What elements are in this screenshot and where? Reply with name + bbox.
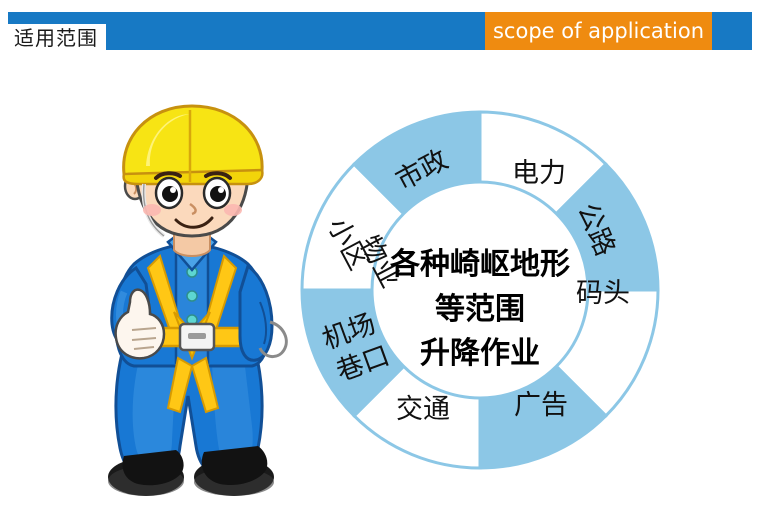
slide-canvas: scope of application 适用范围 bbox=[0, 0, 760, 518]
header-english-badge: scope of application bbox=[485, 12, 712, 50]
label-dianli: 电力 bbox=[512, 158, 566, 189]
pupil-left bbox=[162, 186, 178, 202]
worker-body-group bbox=[108, 106, 286, 496]
cheek-right bbox=[224, 204, 242, 216]
pupil-right bbox=[210, 186, 226, 202]
belt-buckle-bar bbox=[188, 333, 206, 339]
header-chinese-title: 适用范围 bbox=[14, 28, 98, 48]
eye-right-glint bbox=[218, 187, 224, 193]
header-chinese-badge: 适用范围 bbox=[8, 24, 106, 52]
center-line-1: 各种崎岖地形 bbox=[389, 247, 570, 282]
eye-left-glint bbox=[170, 187, 176, 193]
center-line-3: 升降作业 bbox=[420, 336, 540, 371]
label-guanggao: 广告 bbox=[514, 390, 568, 421]
worker-illustration bbox=[72, 96, 312, 496]
header-english-title: scope of application bbox=[493, 21, 704, 42]
jacket-button bbox=[187, 291, 197, 301]
label-matou: 码头 bbox=[576, 278, 630, 309]
arm-right bbox=[240, 266, 272, 360]
center-line-2: 等范围 bbox=[435, 292, 525, 327]
scope-donut-chart: 电力 公路 码头 广告 交通 机场 巷口 小区 物业 市政 各种崎岖地形 等范围… bbox=[296, 106, 664, 474]
label-jiaotong: 交通 bbox=[396, 394, 450, 425]
cheek-left bbox=[143, 204, 161, 216]
